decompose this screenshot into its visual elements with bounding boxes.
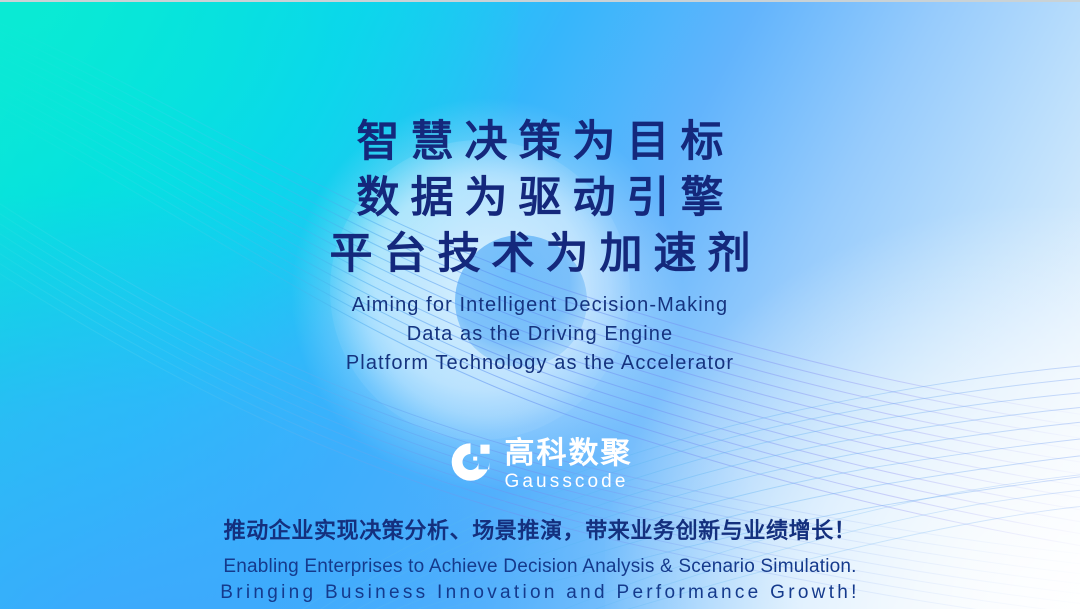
footer-tagline-en-line-2: Bringing Business Innovation and Perform… — [220, 580, 859, 606]
company-logo: 高科数聚 Gausscode — [448, 438, 633, 493]
headline: 智慧决策为目标 数据为驱动引擎 平台技术为加速剂 — [319, 114, 762, 282]
logo-company-name-en: Gausscode — [505, 471, 629, 493]
subtitle-line-3: Platform Technology as the Accelerator — [346, 349, 734, 378]
headline-line-1: 智慧决策为目标 — [319, 114, 762, 170]
poster-content: 智慧决策为目标 数据为驱动引擎 平台技术为加速剂 Aiming for Inte… — [0, 2, 1080, 609]
subtitle-line-2: Data as the Driving Engine — [346, 320, 734, 349]
footer-tagline-en: Enabling Enterprises to Achieve Decision… — [220, 554, 859, 606]
footer-tagline-cn: 推动企业实现决策分析、场景推演，带来业务创新与业绩增长！ — [220, 517, 859, 547]
footer: 推动企业实现决策分析、场景推演，带来业务创新与业绩增长！ Enabling En… — [220, 517, 859, 606]
subtitle: Aiming for Intelligent Decision-Making D… — [346, 291, 734, 378]
headline-line-2: 数据为驱动引擎 — [319, 170, 762, 226]
gausscode-logo-mark-icon — [448, 440, 492, 484]
logo-company-name-cn: 高科数聚 — [505, 438, 633, 469]
headline-line-3: 平台技术为加速剂 — [319, 226, 762, 282]
footer-tagline-en-line-1: Enabling Enterprises to Achieve Decision… — [220, 554, 859, 580]
poster-canvas: 智慧决策为目标 数据为驱动引擎 平台技术为加速剂 Aiming for Inte… — [0, 0, 1080, 609]
subtitle-line-1: Aiming for Intelligent Decision-Making — [346, 291, 734, 320]
logo-text-block: 高科数聚 Gausscode — [505, 438, 633, 493]
